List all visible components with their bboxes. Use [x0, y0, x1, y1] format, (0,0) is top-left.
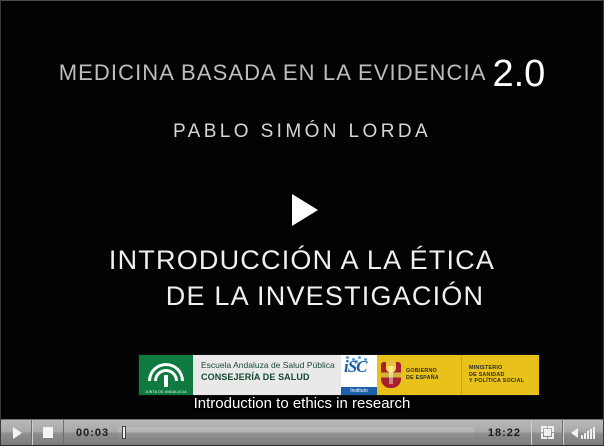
play-icon: [292, 194, 318, 226]
fullscreen-icon: [541, 426, 554, 439]
player-control-bar: 00:03 18:22: [1, 419, 603, 445]
current-time-label: 00:03: [64, 420, 118, 445]
video-stage[interactable]: MEDICINA BASADA EN LA EVIDENCIA2.0 PABLO…: [1, 1, 603, 419]
volume-level-bars[interactable]: [581, 426, 595, 439]
play-icon: [13, 427, 22, 439]
play-overlay-button[interactable]: [1, 1, 603, 419]
seek-handle[interactable]: [122, 426, 126, 439]
seek-bar-wrapper: [118, 420, 478, 445]
volume-control[interactable]: [563, 420, 603, 445]
seek-bar[interactable]: [118, 427, 474, 438]
duration-label: 18:22: [478, 420, 531, 445]
speaker-icon: [571, 428, 578, 438]
video-player: MEDICINA BASADA EN LA EVIDENCIA2.0 PABLO…: [0, 0, 604, 446]
stop-icon: [43, 427, 53, 438]
fullscreen-button[interactable]: [531, 420, 563, 445]
stop-button[interactable]: [32, 420, 64, 445]
play-button[interactable]: [1, 420, 32, 445]
